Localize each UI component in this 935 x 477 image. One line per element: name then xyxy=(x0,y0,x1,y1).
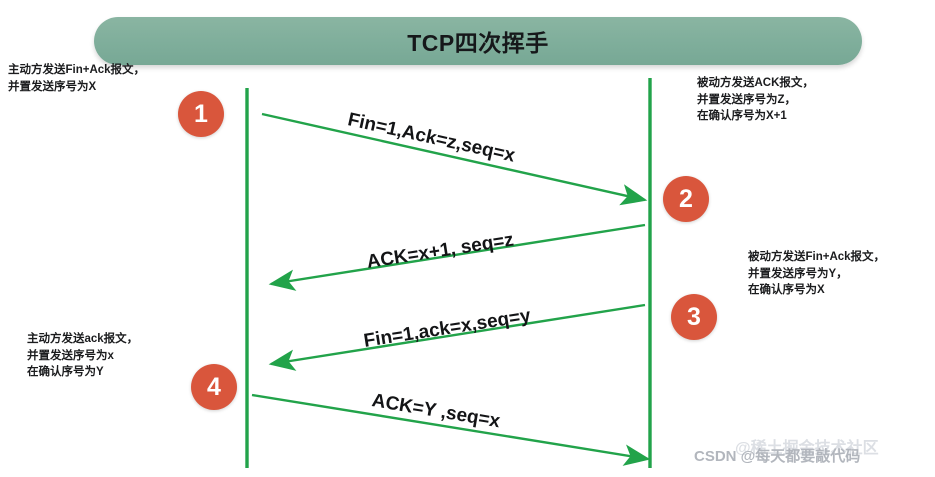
step-badge-1: 1 xyxy=(178,91,224,137)
watermark-csdn: CSDN @每天都要敲代码 xyxy=(694,445,860,466)
note-bottom-left-line2: 并置发送序号为x xyxy=(27,348,138,365)
note-top-right-line2: 并置发送序号为Z， xyxy=(697,92,814,109)
note-middle-right: 被动方发送Fin+Ack报文， 并置发送序号为Y， 在确认序号为X xyxy=(748,249,885,299)
note-top-right: 被动方发送ACK报文， 并置发送序号为Z， 在确认序号为X+1 xyxy=(697,75,814,125)
note-middle-right-line2: 并置发送序号为Y， xyxy=(748,266,885,283)
note-bottom-left-line1: 主动方发送ack报文， xyxy=(27,331,138,348)
note-middle-right-line1: 被动方发送Fin+Ack报文， xyxy=(748,249,885,266)
diagram-canvas: TCP四次挥手 1 2 3 4 主动方发送Fin+Ack报文， 并置发送序号为 xyxy=(0,0,935,477)
note-bottom-left: 主动方发送ack报文， 并置发送序号为x 在确认序号为Y xyxy=(27,331,138,381)
step-badge-3: 3 xyxy=(671,294,717,340)
note-middle-right-line3: 在确认序号为X xyxy=(748,282,885,299)
note-top-right-line1: 被动方发送ACK报文， xyxy=(697,75,814,92)
note-bottom-left-line3: 在确认序号为Y xyxy=(27,364,138,381)
note-top-right-line3: 在确认序号为X+1 xyxy=(697,108,814,125)
message-arrow-1 xyxy=(262,114,645,200)
step-badge-2: 2 xyxy=(663,176,709,222)
note-top-left-line2: 并置发送序号为X xyxy=(8,79,145,96)
step-badge-4: 4 xyxy=(191,364,237,410)
note-top-left-line1: 主动方发送Fin+Ack报文， xyxy=(8,62,145,79)
note-top-left: 主动方发送Fin+Ack报文， 并置发送序号为X xyxy=(8,62,145,95)
